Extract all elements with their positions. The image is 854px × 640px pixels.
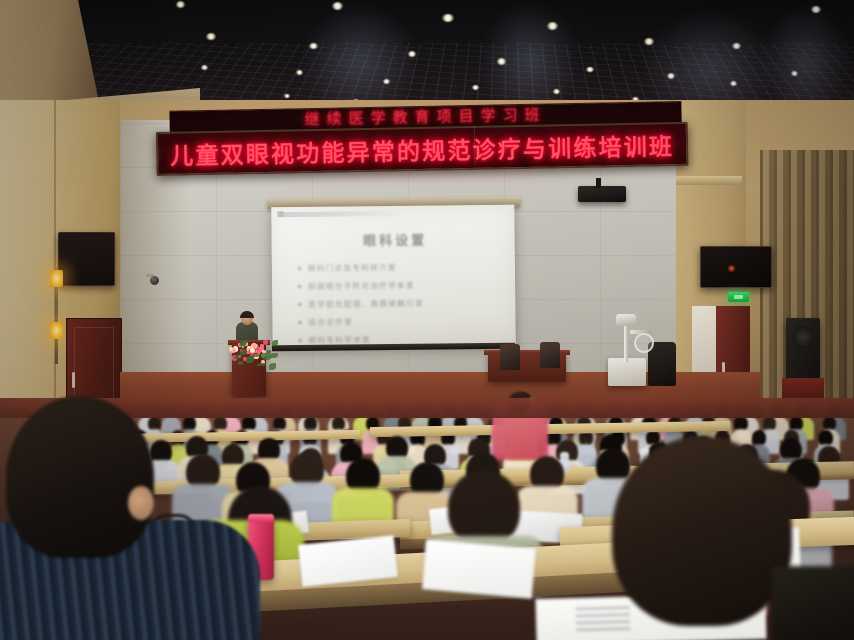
- projector-mount: [596, 178, 601, 188]
- slide-bullet-list: 眼科门诊及专科转介室 斜弱视分子阶光治疗学本室 医学验光配镜、角膜接触行室 综合…: [298, 261, 506, 346]
- thermos-cap: [248, 514, 274, 522]
- ceiling-downlight: [176, 1, 185, 7]
- stage-chair: [500, 344, 520, 370]
- slide-content: 眼科设置 眼科门诊及专科转介室 斜弱视分子阶光治疗学本室 医学验光配镜、角膜接触…: [271, 205, 515, 348]
- flower-leaf: [240, 349, 247, 355]
- right-wall-monitor: [700, 246, 772, 288]
- pa-speaker-cabinet: [786, 318, 820, 380]
- flower-petal: [229, 347, 233, 351]
- slide-bullet: 斜弱视分子阶光治疗学本室: [298, 279, 505, 292]
- flower-leaf: [238, 361, 243, 366]
- flower-leaf: [234, 355, 241, 359]
- flower-leaf: [246, 356, 254, 363]
- left-door-handle[interactable]: [72, 372, 75, 388]
- right-cornice: [676, 176, 742, 185]
- ceiling-downlight: [442, 14, 454, 23]
- flower-leaf: [257, 363, 265, 366]
- led-banner: 继续医学教育项目学习班 儿童双眼视功能异常的规范诊疗与训练培训班: [155, 101, 684, 179]
- flower-leaf: [240, 340, 248, 346]
- stage-chair: [540, 342, 560, 368]
- presenter-hair: [240, 311, 254, 318]
- slide-bullet: 综合诊疗室: [298, 315, 505, 328]
- equipment-cart-head: [616, 314, 636, 326]
- slide-bullet: 医学验光配镜、角膜接触行室: [298, 297, 505, 310]
- flower-leaf: [270, 353, 279, 358]
- flower-leaf: [272, 340, 279, 346]
- slide-title: 眼科设置: [286, 229, 505, 250]
- wall-sconce-upper: [50, 270, 63, 287]
- projection-screen: 眼科设置 眼科门诊及专科转介室 斜弱视分子阶光治疗学本室 医学验光配镜、角膜接触…: [271, 205, 515, 348]
- exit-sign-icon: [728, 292, 749, 302]
- flower-arrangement: [225, 332, 275, 368]
- ceiling-downlight: [472, 85, 479, 90]
- flower-leaf: [269, 363, 276, 369]
- foreground-person-head-right: [612, 436, 792, 626]
- flower-leaf: [252, 354, 260, 357]
- projector-icon: [578, 186, 626, 202]
- led-main-text: 儿童双眼视功能异常的规范诊疗与训练培训班: [170, 127, 675, 171]
- ceiling-downlight: [201, 65, 208, 70]
- led-banner-main-line: 儿童双眼视功能异常的规范诊疗与训练培训班: [156, 122, 689, 176]
- handout-text-block: [576, 607, 631, 636]
- wall-sconce-lower: [50, 322, 63, 339]
- foreground-person-ear: [128, 486, 154, 520]
- left-wall-monitor: [58, 232, 115, 286]
- foreground-backpack: [772, 566, 854, 640]
- slide-header-bar: [279, 211, 401, 217]
- conference-hall-photo: 继续医学教育项目学习班 儿童双眼视功能异常的规范诊疗与训练培训班 眼科设置 眼科…: [0, 0, 854, 640]
- foreground-person-head: [6, 396, 154, 558]
- equipment-cart-base: [608, 358, 646, 386]
- ceiling-downlight: [284, 94, 290, 98]
- foreground-paper: [422, 539, 536, 598]
- ceiling-downlight: [206, 33, 216, 40]
- slide-bullet: 眼科门诊及专科转介室: [298, 261, 505, 274]
- flower-petal: [263, 340, 268, 345]
- equipment-lens-icon: [634, 333, 654, 353]
- audience-head: [448, 470, 520, 546]
- security-camera-icon: [150, 276, 159, 285]
